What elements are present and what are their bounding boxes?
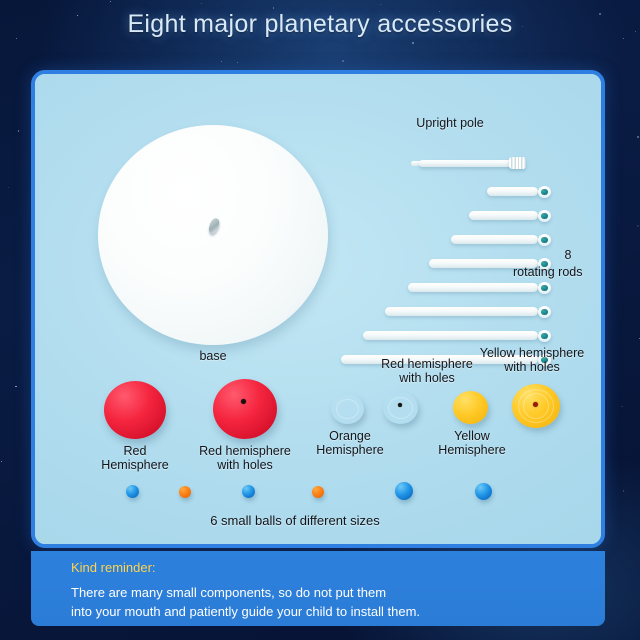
reminder-title: Kind reminder: <box>71 560 605 575</box>
base-disc <box>98 125 328 345</box>
rod-hole <box>541 213 547 219</box>
pole-shaft <box>419 160 514 167</box>
hemisphere-ring <box>336 399 359 419</box>
label-base: base <box>153 349 273 363</box>
label-yellow-hemisphere: Yellow Hemisphere <box>427 429 517 457</box>
label-yellow-hemisphere-with-holes: Yellow hemisphere with holes <box>457 346 605 374</box>
reminder-line-2: into your mouth and patiently guide your… <box>71 603 605 622</box>
reminder-line-1: There are many small components, so do n… <box>71 584 605 603</box>
rotating-rod-7-shown <box>363 331 551 340</box>
rod-body <box>451 235 538 244</box>
pole-threaded-end <box>509 157 526 169</box>
orange-hemisphere <box>331 394 364 424</box>
hemisphere-hole <box>398 403 402 407</box>
rod-hole <box>541 237 547 243</box>
rod-body <box>408 283 538 292</box>
rod-body <box>469 211 538 220</box>
red-hemisphere-with-holes <box>213 379 277 439</box>
product-photo-frame: base Upright pole <box>31 70 605 548</box>
rod-hole <box>541 333 547 339</box>
rod-body <box>487 187 538 196</box>
hemisphere-ring <box>388 397 413 419</box>
label-red-hemisphere: Red Hemisphere <box>85 444 185 472</box>
yellow-hemisphere-with-holes <box>512 384 560 428</box>
kind-reminder-box: Kind reminder: There are many small comp… <box>31 551 605 626</box>
rod-hole <box>541 285 547 291</box>
rotating-rod-6 <box>385 307 551 316</box>
rotating-rod-2 <box>469 211 551 220</box>
label-rods-count: 8 <box>533 248 603 262</box>
ball-blue-large-2 <box>475 483 492 500</box>
label-upright-pole: Upright pole <box>370 116 530 130</box>
red-hemisphere <box>104 381 166 439</box>
label-red-hemisphere-with-holes: Red hemisphere with holes <box>185 444 305 472</box>
rotating-rod-3 <box>451 235 551 244</box>
base-center-nub <box>207 217 221 235</box>
ball-orange-small-2 <box>312 486 324 498</box>
ball-blue-small-1 <box>126 485 139 498</box>
rod-body <box>385 307 538 316</box>
rotating-rod-1 <box>487 187 551 196</box>
rod-hole <box>541 189 547 195</box>
upright-pole <box>411 156 526 169</box>
rod-body <box>363 331 538 340</box>
label-rotating-rods: rotating rods <box>513 265 605 279</box>
label-small-balls: 6 small balls of different sizes <box>165 514 425 529</box>
yellow-hemisphere <box>453 391 488 424</box>
ball-blue-small-2 <box>242 485 255 498</box>
page-title: Eight major planetary accessories <box>0 10 640 39</box>
product-photo: base Upright pole <box>35 74 601 544</box>
rotating-rod-5 <box>408 283 551 292</box>
hemisphere-hole <box>533 402 538 407</box>
rod-hole <box>541 309 547 315</box>
label-orange-hemisphere: Orange Hemisphere <box>305 429 395 457</box>
hemisphere-hole <box>241 399 246 404</box>
ball-orange-small-1 <box>179 486 191 498</box>
orange-hemisphere-with-holes <box>383 392 418 424</box>
ball-blue-large-1 <box>395 482 413 500</box>
